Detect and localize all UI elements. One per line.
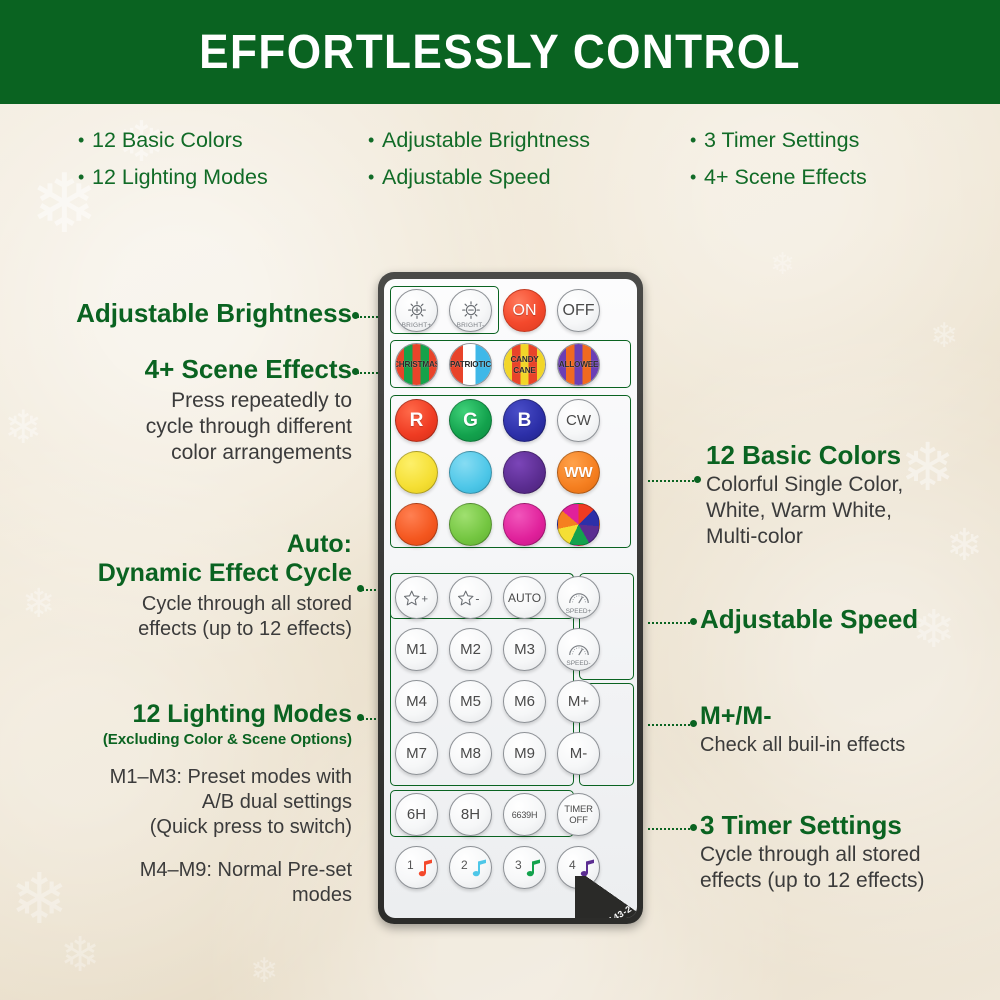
mode-label: M9: [514, 745, 535, 762]
connector-dot: [352, 312, 359, 319]
timer-6h-button[interactable]: 6H: [395, 793, 438, 836]
color-label: B: [518, 410, 532, 432]
auto-label: AUTO: [508, 591, 541, 605]
color-label: CW: [566, 412, 591, 429]
bullet-dot: •: [690, 122, 704, 159]
sun-plus-icon: [406, 300, 428, 322]
bullet-item: •Adjustable Speed: [368, 159, 590, 196]
bullet-column-3: •3 Timer Settings •4+ Scene Effects: [690, 122, 867, 196]
music-note-icon: [580, 858, 596, 878]
connector-basic-colors: [648, 480, 698, 482]
bright-up-label: BRIGHT+: [402, 322, 432, 329]
scene-label: CANDY CANE: [504, 354, 545, 376]
color-red-button[interactable]: R: [395, 399, 438, 442]
annotation-title: 4+ Scene Effects: [30, 354, 352, 384]
bullet-label: 3 Timer Settings: [704, 128, 859, 152]
annotation-auto-dynamic-effect-cycle: Auto: Dynamic Effect Cycle Cycle through…: [30, 530, 352, 642]
music-number: 4: [569, 858, 576, 872]
annotation-timer-settings: 3 Timer Settings Cycle through all store…: [700, 810, 996, 894]
mode-label: M3: [514, 641, 535, 658]
annotation-title: M+/M-: [700, 702, 992, 731]
color-cool-white-button[interactable]: CW: [557, 399, 600, 442]
annotation-title: 3 Timer Settings: [700, 810, 996, 840]
connector-dot: [690, 618, 697, 625]
connector-dot: [357, 714, 364, 721]
bright-up-button[interactable]: BRIGHT+: [395, 289, 438, 332]
annotation-body: Press repeatedly to cycle through differ…: [30, 388, 352, 466]
annotation-body: Colorful Single Color, White, Warm White…: [706, 472, 992, 550]
connector-m-plus-minus: [648, 724, 694, 726]
bright-down-label: BRIGHT-: [457, 322, 485, 329]
timer-label: 6639H: [512, 810, 538, 820]
svg-text:-: -: [475, 591, 479, 605]
annotation-title: Adjustable Speed: [700, 604, 992, 634]
color-blue-button[interactable]: B: [503, 399, 546, 442]
bullet-dot: •: [78, 122, 92, 159]
gauge-icon: [567, 589, 591, 606]
color-green-button[interactable]: G: [449, 399, 492, 442]
bullet-column-2: •Adjustable Brightness •Adjustable Speed: [368, 122, 590, 196]
scene-label: CHRISTMAS: [395, 360, 438, 369]
connector-timer: [648, 828, 694, 830]
color-label: WW: [564, 464, 592, 481]
mode-m7-button[interactable]: M7: [395, 732, 438, 775]
annotation-body: Cycle through all stored effects (up to …: [700, 842, 996, 894]
bullet-dot: •: [368, 159, 382, 196]
annotation-body-1: M1–M3: Preset modes with A/B dual settin…: [30, 765, 352, 840]
mode-label: M5: [460, 693, 481, 710]
timer-6639h-button[interactable]: 6639H: [503, 793, 546, 836]
mode-label: M7: [406, 745, 427, 762]
speed-down-button[interactable]: SPEED-: [557, 628, 600, 671]
bullet-label: Adjustable Brightness: [382, 128, 590, 152]
model-number-label: 143-2: [607, 904, 634, 918]
music-note-icon: [418, 858, 434, 878]
bullet-label: Adjustable Speed: [382, 165, 551, 189]
scene-candy-cane-button[interactable]: CANDY CANE: [503, 343, 546, 386]
gauge-icon: [567, 641, 591, 658]
remote-control: BRIGHT+ BRIGHT-: [378, 272, 643, 924]
power-off-label: OFF: [563, 302, 595, 320]
speed-down-label: SPEED-: [566, 660, 590, 667]
remote-faceplate: BRIGHT+ BRIGHT-: [384, 279, 637, 918]
timer-off-button[interactable]: TIMER OFF: [557, 793, 600, 836]
annotation-basic-colors: 12 Basic Colors Colorful Single Color, W…: [706, 440, 992, 550]
bullet-dot: •: [78, 159, 92, 196]
bullet-item: •4+ Scene Effects: [690, 159, 867, 196]
music-number: 3: [515, 858, 522, 872]
music-note-icon: [472, 858, 488, 878]
color-cyan-button[interactable]: [449, 451, 492, 494]
mode-label: M1: [406, 641, 427, 658]
annotation-m-plus-minus: M+/M- Check all buil-in effects: [700, 702, 992, 758]
music-number: 1: [407, 858, 414, 872]
connector-dot: [694, 476, 701, 483]
bullet-item: •Adjustable Brightness: [368, 122, 590, 159]
color-orange-button[interactable]: [395, 503, 438, 546]
music-3-button[interactable]: 3: [503, 846, 546, 889]
star-minus-icon: -: [456, 589, 486, 607]
annotation-lighting-modes: 12 Lighting Modes (Excluding Color & Sce…: [30, 700, 352, 908]
svg-text:+: +: [421, 593, 428, 605]
bullet-column-1: •12 Basic Colors •12 Lighting Modes: [78, 122, 268, 196]
bullet-label: 12 Basic Colors: [92, 128, 243, 152]
color-label: G: [463, 410, 478, 432]
music-1-button[interactable]: 1: [395, 846, 438, 889]
mode-m3-button[interactable]: M3: [503, 628, 546, 671]
header-banner: EFFORTLESSLY CONTROL: [0, 0, 1000, 104]
color-warm-white-button[interactable]: WW: [557, 451, 600, 494]
annotation-title: 12 Lighting Modes: [30, 700, 352, 729]
power-on-label: ON: [513, 302, 537, 320]
power-on-button[interactable]: ON: [503, 289, 546, 332]
annotation-title-line1: Auto:: [30, 530, 352, 559]
annotation-adjustable-speed: Adjustable Speed: [700, 604, 992, 634]
annotation-title-line2: Dynamic Effect Cycle: [30, 559, 352, 588]
star-plus-button[interactable]: +: [395, 576, 438, 619]
connector-dot: [690, 720, 697, 727]
scene-halloween-button[interactable]: HALLOWEEN: [557, 343, 600, 386]
bullet-label: 4+ Scene Effects: [704, 165, 867, 189]
bullet-item: •3 Timer Settings: [690, 122, 867, 159]
bullet-item: •12 Lighting Modes: [78, 159, 268, 196]
mode-label: M8: [460, 745, 481, 762]
mode-m6-button[interactable]: M6: [503, 680, 546, 723]
bullet-item: •12 Basic Colors: [78, 122, 268, 159]
connector-dot: [357, 585, 364, 592]
mode-m2-button[interactable]: M2: [449, 628, 492, 671]
page-title: EFFORTLESSLY CONTROL: [199, 25, 801, 80]
timer-8h-button[interactable]: 8H: [449, 793, 492, 836]
annotation-body-2: M4–M9: Normal Pre-set modes: [30, 858, 352, 908]
annotation-body: Check all buil-in effects: [700, 733, 992, 758]
music-number: 2: [461, 858, 468, 872]
mode-next-button[interactable]: M+: [557, 680, 600, 723]
mode-label: M+: [568, 693, 589, 710]
mode-label: M6: [514, 693, 535, 710]
power-off-button[interactable]: OFF: [557, 289, 600, 332]
color-purple-button[interactable]: [503, 451, 546, 494]
annotation-body: Cycle through all stored effects (up to …: [30, 592, 352, 642]
timer-label: 8H: [461, 806, 480, 823]
scene-label: PATRIOTIC: [449, 360, 492, 369]
connector-dot: [690, 824, 697, 831]
music-2-button[interactable]: 2: [449, 846, 492, 889]
color-light-green-button[interactable]: [449, 503, 492, 546]
color-magenta-button[interactable]: [503, 503, 546, 546]
timer-label: 6H: [407, 806, 426, 823]
mode-label: M-: [570, 745, 588, 762]
color-yellow-button[interactable]: [395, 451, 438, 494]
sun-minus-icon: [460, 300, 482, 322]
annotation-scene-effects: 4+ Scene Effects Press repeatedly to cyc…: [30, 354, 352, 466]
feature-bullet-list: •12 Basic Colors •12 Lighting Modes •Adj…: [0, 122, 1000, 204]
mode-prev-button[interactable]: M-: [557, 732, 600, 775]
mode-m8-button[interactable]: M8: [449, 732, 492, 775]
annotation-title: 12 Basic Colors: [706, 440, 992, 470]
star-minus-button[interactable]: -: [449, 576, 492, 619]
music-note-icon: [526, 858, 542, 878]
mode-label: M4: [406, 693, 427, 710]
model-number-tag: 143-2: [575, 876, 637, 918]
bright-down-button[interactable]: BRIGHT-: [449, 289, 492, 332]
speed-up-button[interactable]: SPEED+: [557, 576, 600, 619]
star-plus-icon: +: [402, 589, 432, 607]
timer-label: TIMER OFF: [558, 804, 599, 826]
connector-speed: [648, 622, 694, 624]
bullet-dot: •: [690, 159, 704, 196]
scene-christmas-button[interactable]: CHRISTMAS: [395, 343, 438, 386]
auto-button[interactable]: AUTO: [503, 576, 546, 619]
annotation-title: Adjustable Brightness: [30, 298, 352, 328]
annotation-subtitle: (Excluding Color & Scene Options): [30, 730, 352, 749]
mode-label: M2: [460, 641, 481, 658]
scene-label: HALLOWEEN: [557, 360, 600, 369]
speed-up-label: SPEED+: [566, 608, 592, 615]
mode-m5-button[interactable]: M5: [449, 680, 492, 723]
mode-m1-button[interactable]: M1: [395, 628, 438, 671]
connector-dot: [352, 368, 359, 375]
bullet-dot: •: [368, 122, 382, 159]
color-label: R: [410, 410, 424, 432]
scene-patriotic-button[interactable]: PATRIOTIC: [449, 343, 492, 386]
mode-m4-button[interactable]: M4: [395, 680, 438, 723]
annotation-adjustable-brightness: Adjustable Brightness: [30, 298, 352, 328]
bullet-label: 12 Lighting Modes: [92, 165, 268, 189]
mode-m9-button[interactable]: M9: [503, 732, 546, 775]
color-multi-button[interactable]: [557, 503, 600, 546]
